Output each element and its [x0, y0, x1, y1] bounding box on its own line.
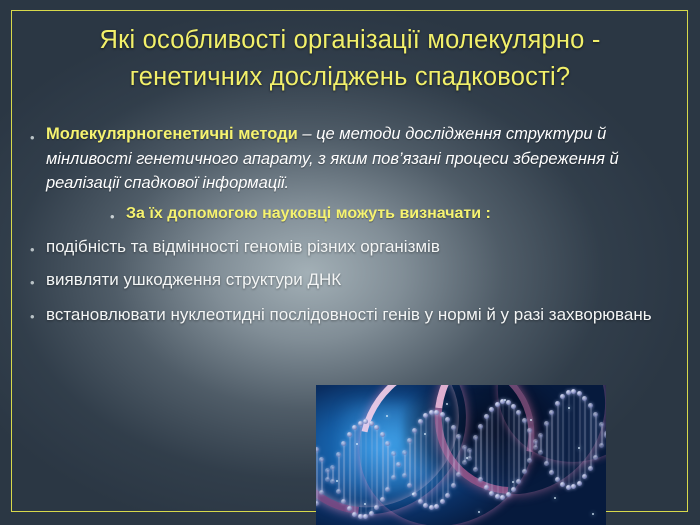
dna-base-pair — [579, 393, 581, 482]
dna-molecule-node — [473, 435, 478, 440]
dna-molecule-node — [495, 494, 500, 499]
dna-base-pair — [420, 421, 422, 501]
bullet-item-dna-damage: • виявляти ушкодження структури ДНК — [30, 267, 670, 292]
dna-molecule-node — [511, 487, 516, 492]
bullet-item-definition: • Молекулярногенетичні методи – це метод… — [30, 122, 670, 196]
dna-molecule-node — [544, 421, 549, 426]
dna-molecule-node — [484, 485, 489, 490]
dna-background-sparkle — [386, 415, 388, 417]
bullet-item-genomes: • подібність та відмінності геномів різн… — [30, 234, 670, 259]
dna-molecule-node — [588, 466, 593, 471]
dna-background-sparkle — [530, 419, 532, 421]
dna-base-pair — [557, 403, 559, 479]
dna-base-pair — [590, 405, 592, 468]
dna-molecule-node — [325, 468, 330, 473]
dna-molecule-node — [566, 485, 571, 490]
dna-base-pair — [409, 440, 411, 485]
dna-molecule-node — [402, 473, 407, 478]
dna-base-pair — [518, 412, 520, 481]
dna-base-pair — [338, 454, 340, 491]
dna-molecule-node — [347, 432, 352, 437]
dna-molecule-node — [358, 421, 363, 426]
dna-base-pair — [376, 427, 378, 507]
dna-molecule-node — [478, 477, 483, 482]
dna-molecule-node — [445, 493, 450, 498]
dna-base-pair — [442, 414, 444, 501]
dna-molecule-node — [489, 407, 494, 412]
bullet-text-intro: За їх допомогою науковці можуть визначат… — [126, 202, 670, 226]
title-line-1: Які особливості організації молекулярно … — [24, 22, 676, 59]
dna-molecule-node — [369, 421, 374, 426]
dna-base-pair — [371, 423, 373, 513]
dna-molecule-node — [462, 460, 467, 465]
dna-molecule-node — [533, 439, 538, 444]
dna-base-pair — [529, 430, 531, 460]
dna-background-sparkle — [592, 513, 594, 515]
dna-molecule-node — [369, 511, 374, 516]
dna-molecule-node — [440, 412, 445, 417]
bullet-text-definition: Молекулярногенетичні методи – це методи … — [46, 122, 670, 196]
dna-base-pair — [508, 402, 510, 494]
dna-molecule-node — [604, 431, 606, 436]
dna-base-pair — [365, 421, 367, 516]
dna-base-pair — [497, 404, 499, 497]
dna-molecule-node — [462, 445, 467, 450]
dna-molecule-node — [451, 425, 456, 430]
bullet-marker-icon: • — [30, 267, 46, 289]
dna-background-sparkle — [504, 399, 506, 401]
dna-helix-strands — [316, 385, 606, 525]
dna-base-pair — [425, 415, 427, 505]
dna-base-pair — [414, 430, 416, 494]
dna-molecule-node — [316, 501, 319, 506]
dna-molecule-node — [380, 497, 385, 502]
slide-title: Які особливості організації молекулярно … — [24, 22, 676, 96]
dna-base-pair — [447, 419, 449, 494]
bullet-text-nucleotide: встановлювати нуклеотидні послідовності … — [46, 301, 670, 328]
dna-base-pair — [354, 427, 356, 514]
dna-background-sparkle — [446, 403, 448, 405]
bullet-marker-icon: • — [110, 202, 126, 223]
dna-molecule-node — [385, 441, 390, 446]
dna-double-helix-image — [316, 385, 606, 525]
dna-molecule-node — [352, 512, 357, 517]
dna-molecule-node — [358, 514, 363, 519]
bullet-marker-icon: • — [30, 234, 46, 256]
dna-base-pair — [486, 416, 488, 487]
dna-molecule-node — [396, 462, 401, 467]
dna-base-pair — [382, 434, 384, 499]
bullet-marker-icon: • — [30, 301, 46, 323]
dna-base-pair — [404, 452, 406, 475]
dna-molecule-node — [495, 402, 500, 407]
bullet-marker-icon: • — [30, 122, 46, 144]
dna-molecule-node — [560, 482, 565, 487]
dna-base-pair — [546, 423, 548, 463]
definition-term: Молекулярногенетичні методи — [46, 125, 298, 143]
dna-background-sparkle — [336, 480, 338, 482]
presentation-slide: Які особливості організації молекулярно … — [0, 0, 700, 525]
dna-base-pair — [316, 449, 318, 503]
dna-base-pair — [601, 424, 603, 445]
dna-background-sparkle — [466, 457, 468, 459]
dna-molecule-node — [363, 514, 368, 519]
dna-molecule-node — [599, 422, 604, 427]
dna-molecule-node — [588, 403, 593, 408]
dna-background-sparkle — [578, 447, 580, 449]
dna-base-pair — [387, 443, 389, 489]
dna-background-sparkle — [478, 511, 480, 513]
bullet-item-nucleotide: • встановлювати нуклеотидні послідовност… — [30, 301, 670, 328]
dna-molecule-node — [434, 504, 439, 509]
dna-base-pair — [491, 409, 493, 493]
dna-base-pair — [584, 398, 586, 476]
dna-molecule-node — [402, 450, 407, 455]
dna-background-sparkle — [554, 497, 556, 499]
dna-molecule-node — [467, 448, 472, 453]
dna-base-pair — [431, 412, 433, 507]
dna-molecule-node — [582, 474, 587, 479]
dna-base-pair — [480, 426, 482, 479]
dna-background-sparkle — [424, 433, 426, 435]
dna-background-sparkle — [412, 493, 414, 495]
dna-molecule-node — [429, 505, 434, 510]
dna-molecule-node — [599, 443, 604, 448]
dna-base-pair — [551, 412, 553, 472]
dna-base-pair — [393, 453, 395, 477]
dna-base-pair — [573, 391, 575, 486]
dna-background-sparkle — [512, 481, 514, 483]
title-line-2: генетичних досліджень спадковості? — [24, 59, 676, 96]
dna-molecule-node — [391, 451, 396, 456]
dna-base-pair — [343, 443, 345, 500]
dna-molecule-node — [484, 414, 489, 419]
dna-molecule-node — [391, 475, 396, 480]
dna-base-pair — [458, 436, 460, 474]
dna-molecule-node — [593, 455, 598, 460]
dna-base-pair — [513, 406, 515, 489]
dna-molecule-node — [555, 401, 560, 406]
dna-base-pair — [475, 437, 477, 468]
dna-molecule-node — [506, 400, 511, 405]
dna-base-pair — [436, 412, 438, 506]
dna-molecule-node — [577, 481, 582, 486]
dna-molecule-node — [544, 461, 549, 466]
dna-base-pair — [349, 434, 351, 508]
dna-molecule-node — [385, 487, 390, 492]
dna-base-pair — [595, 414, 597, 457]
bullet-text-genomes: подібність та відмінності геномів різних… — [46, 234, 670, 259]
dna-molecule-node — [571, 484, 576, 489]
dna-background-sparkle — [568, 407, 570, 409]
dna-molecule-node — [473, 467, 478, 472]
dna-molecule-node — [407, 483, 412, 488]
dna-molecule-node — [506, 492, 511, 497]
dna-base-pair — [502, 401, 504, 496]
dna-base-pair — [524, 420, 526, 471]
bullet-text-dna-damage: виявляти ушкодження структури ДНК — [46, 267, 670, 292]
dna-background-sparkle — [356, 443, 358, 445]
bullet-item-intro: • За їх допомогою науковці можуть визнач… — [110, 202, 670, 226]
dna-base-pair — [562, 396, 564, 484]
dna-molecule-node — [511, 404, 516, 409]
dna-molecule-node — [429, 410, 434, 415]
dna-molecule-node — [500, 495, 505, 500]
dna-base-pair — [321, 459, 323, 492]
dna-molecule-node — [418, 499, 423, 504]
dna-base-pair — [453, 427, 455, 485]
dna-molecule-node — [577, 391, 582, 396]
dna-molecule-node — [380, 432, 385, 437]
dna-base-pair — [360, 423, 362, 517]
dna-molecule-node — [489, 491, 494, 496]
dna-background-sparkle — [364, 503, 366, 505]
slide-body-list: • Молекулярногенетичні методи – це метод… — [30, 122, 670, 332]
